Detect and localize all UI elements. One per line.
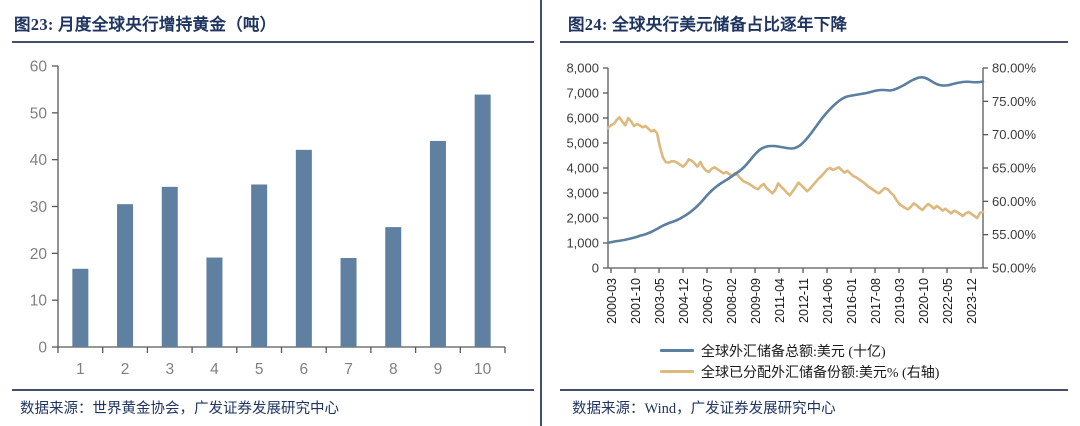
right-y-tick-label: 75.00% bbox=[992, 94, 1037, 109]
x-date-label: 2023-12 bbox=[965, 278, 979, 324]
x-date-label: 2006-07 bbox=[701, 278, 715, 324]
x-category-label: 4 bbox=[210, 361, 219, 378]
x-category-label: 2 bbox=[121, 361, 130, 378]
x-date-label: 2019-03 bbox=[893, 278, 907, 324]
right-y-tick-label: 80.00% bbox=[992, 61, 1037, 76]
bar bbox=[72, 269, 88, 347]
y-tick-label: 40 bbox=[30, 152, 48, 169]
y-tick-label: 30 bbox=[30, 199, 48, 216]
legend-item-total-reserves: 全球外汇储备总额:美元 (十亿) bbox=[660, 342, 939, 359]
y-tick-label: 60 bbox=[30, 59, 48, 76]
x-category-label: 7 bbox=[344, 361, 353, 378]
figure-23-title: 图23: 月度全球央行增持黄金（吨） bbox=[14, 11, 277, 37]
bar bbox=[162, 187, 178, 347]
bar bbox=[251, 184, 267, 347]
x-date-label: 2011-04 bbox=[773, 278, 787, 323]
y-tick-label: 10 bbox=[30, 293, 48, 310]
figure-23-bar-chart: 010203040506012345678910 bbox=[0, 42, 540, 382]
y-tick-label: 0 bbox=[38, 340, 47, 357]
x-category-label: 8 bbox=[389, 361, 398, 378]
x-date-label: 2009-09 bbox=[749, 278, 763, 324]
bar bbox=[341, 258, 357, 347]
x-date-label: 2003-05 bbox=[653, 278, 667, 324]
x-date-label: 2001-10 bbox=[629, 278, 643, 324]
left-y-tick-label: 3,000 bbox=[566, 186, 599, 201]
bar bbox=[117, 204, 133, 347]
right-y-tick-label: 50.00% bbox=[992, 261, 1037, 276]
left-y-tick-label: 4,000 bbox=[566, 161, 599, 176]
bar bbox=[430, 141, 446, 347]
right-y-tick-label: 65.00% bbox=[992, 161, 1037, 176]
bar bbox=[475, 95, 491, 347]
legend-swatch-tan bbox=[660, 370, 694, 374]
x-date-label: 2000-03 bbox=[605, 278, 619, 324]
legend-swatch-blue bbox=[660, 349, 694, 353]
bar bbox=[296, 150, 312, 347]
figure-24-title: 图24: 全球央行美元储备占比逐年下降 bbox=[568, 11, 847, 37]
x-date-label: 2012-11 bbox=[797, 278, 811, 323]
x-category-label: 1 bbox=[76, 361, 85, 378]
legend-label-total-reserves: 全球外汇储备总额:美元 (十亿) bbox=[701, 341, 886, 361]
legend-item-usd-share: 全球已分配外汇储备份额:美元% (右轴) bbox=[660, 363, 939, 380]
figure-23-footer-rule bbox=[12, 389, 534, 391]
x-date-label: 2022-05 bbox=[941, 278, 955, 324]
right-y-tick-label: 55.00% bbox=[992, 227, 1037, 242]
x-date-label: 2016-01 bbox=[845, 278, 859, 324]
x-category-label: 9 bbox=[434, 361, 443, 378]
figure-24-footer-rule bbox=[560, 389, 1068, 391]
x-date-label: 2020-10 bbox=[917, 278, 931, 324]
x-date-label: 2017-08 bbox=[869, 278, 883, 324]
left-y-tick-label: 1,000 bbox=[566, 236, 599, 251]
figure-24-panel: 图24: 全球央行美元储备占比逐年下降 01,0002,0003,0004,00… bbox=[540, 0, 1080, 426]
x-date-label: 2008-02 bbox=[725, 278, 739, 324]
bar bbox=[385, 227, 401, 347]
y-tick-label: 50 bbox=[30, 105, 48, 122]
figure-24-legend: 全球外汇储备总额:美元 (十亿) 全球已分配外汇储备份额:美元% (右轴) bbox=[660, 342, 939, 380]
bar bbox=[206, 258, 222, 347]
left-y-tick-label: 7,000 bbox=[566, 86, 599, 101]
x-date-label: 2004-12 bbox=[677, 278, 691, 324]
left-y-tick-label: 6,000 bbox=[566, 111, 599, 126]
left-y-tick-label: 5,000 bbox=[566, 136, 599, 151]
x-category-label: 6 bbox=[300, 361, 309, 378]
x-category-label: 3 bbox=[165, 361, 174, 378]
right-y-tick-label: 70.00% bbox=[992, 127, 1037, 142]
figure-24-line-chart: 01,0002,0003,0004,0005,0006,0007,0008,00… bbox=[540, 42, 1080, 342]
left-y-tick-label: 2,000 bbox=[566, 211, 599, 226]
figure-23-panel: 图23: 月度全球央行增持黄金（吨） 010203040506012345678… bbox=[0, 0, 540, 426]
x-category-label: 10 bbox=[474, 361, 492, 378]
series-line-usd-share bbox=[608, 117, 983, 218]
left-y-tick-label: 8,000 bbox=[566, 61, 599, 76]
figure-23-source: 数据来源：世界黄金协会，广发证券发展研究中心 bbox=[20, 397, 339, 418]
left-y-tick-label: 0 bbox=[592, 261, 599, 276]
figure-24-source: 数据来源：Wind，广发证券发展研究中心 bbox=[572, 397, 836, 418]
y-tick-label: 20 bbox=[30, 246, 48, 263]
x-category-label: 5 bbox=[255, 361, 264, 378]
figures-page: 图23: 月度全球央行增持黄金（吨） 010203040506012345678… bbox=[0, 0, 1080, 426]
x-date-label: 2014-06 bbox=[821, 278, 835, 324]
right-y-tick-label: 60.00% bbox=[992, 194, 1037, 209]
legend-label-usd-share: 全球已分配外汇储备份额:美元% (右轴) bbox=[701, 362, 939, 382]
